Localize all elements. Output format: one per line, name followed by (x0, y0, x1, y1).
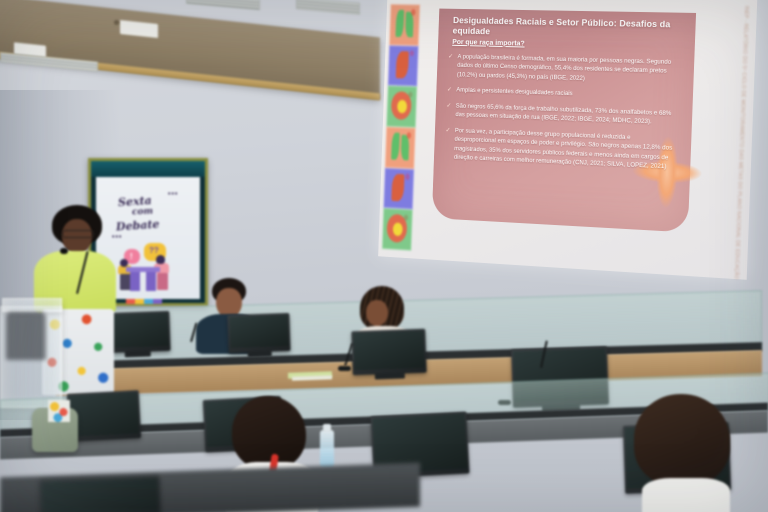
bottle-cap (323, 424, 331, 432)
tile-leaf-blue (388, 45, 419, 87)
speech-bubble-left-text: ! (130, 252, 133, 261)
water-bottle[interactable] (320, 430, 334, 468)
tile-leaf-blue (383, 167, 414, 209)
slide-bullet-text: Por sua vez, a participação desse grupo … (454, 126, 676, 172)
illustration-head (156, 255, 165, 264)
checkmark-icon: ✓ (444, 126, 450, 162)
illustration-head (120, 259, 128, 267)
slide-subtitle: Por que raça importa? (452, 37, 525, 47)
lectern-top (2, 298, 62, 312)
slide-bullet-text: São negros 65,6% da força de trabalho su… (455, 102, 677, 128)
banner-line-3: Debate (116, 218, 160, 234)
slide-bullet-text: Amplas e persistentes desigualdades raci… (456, 86, 573, 99)
checkmark-icon: ✓ (446, 101, 452, 119)
speech-bubble-right-text: ?? (149, 246, 159, 255)
illustration-pillar-top (142, 267, 160, 272)
tile-leaves-orange (385, 127, 416, 169)
patterned-pouch[interactable] (48, 400, 70, 422)
slide-bullet: ✓ A população brasileira é formada, em s… (447, 52, 679, 86)
banner-dots-bottom: ••• (112, 234, 122, 241)
banner-line-2: com (132, 206, 154, 217)
illustration-color-bar (126, 299, 162, 304)
slide-bullet: ✓ Amplas e persistentes desigualdades ra… (447, 86, 678, 103)
slide-content-panel: Desigualdades Raciais e Setor Público: D… (432, 9, 696, 233)
slide-bullet-text: A população brasileira é formada, em sua… (457, 53, 679, 86)
microphone-base (338, 366, 351, 371)
banner-dots-top: ••• (168, 191, 178, 198)
ceiling-sensor-icon (114, 20, 119, 25)
photo-scene: Desigualdades Raciais e Setor Público: D… (0, 0, 768, 512)
slide-bullet: ✓ Por sua vez, a participação desse grup… (444, 126, 676, 172)
slide-bullet: ✓ São negros 65,6% da força de trabalho … (446, 101, 677, 127)
checkmark-icon: ✓ (447, 52, 453, 79)
desk-monitor[interactable] (351, 329, 426, 376)
banner-top-bar (91, 161, 205, 177)
desk-monitor[interactable] (39, 476, 160, 512)
desk-monitor[interactable] (227, 313, 290, 353)
checkmark-icon: ✓ (447, 86, 452, 95)
slide-title: Desigualdades Raciais e Setor Público: D… (453, 15, 689, 41)
illustration-pillar (130, 269, 140, 291)
slide-bullet-list: ✓ A população brasileira é formada, em s… (444, 52, 679, 178)
illustration-legs (157, 273, 168, 290)
tile-sun-green (382, 208, 413, 251)
tile-leaves-orange (389, 4, 420, 46)
tile-sun-green (386, 86, 417, 128)
illustration-pillar (146, 269, 156, 291)
projection-screen: Desigualdades Raciais e Setor Público: D… (378, 0, 757, 280)
office-chair[interactable] (6, 312, 46, 360)
microphone-head-icon (60, 248, 68, 254)
